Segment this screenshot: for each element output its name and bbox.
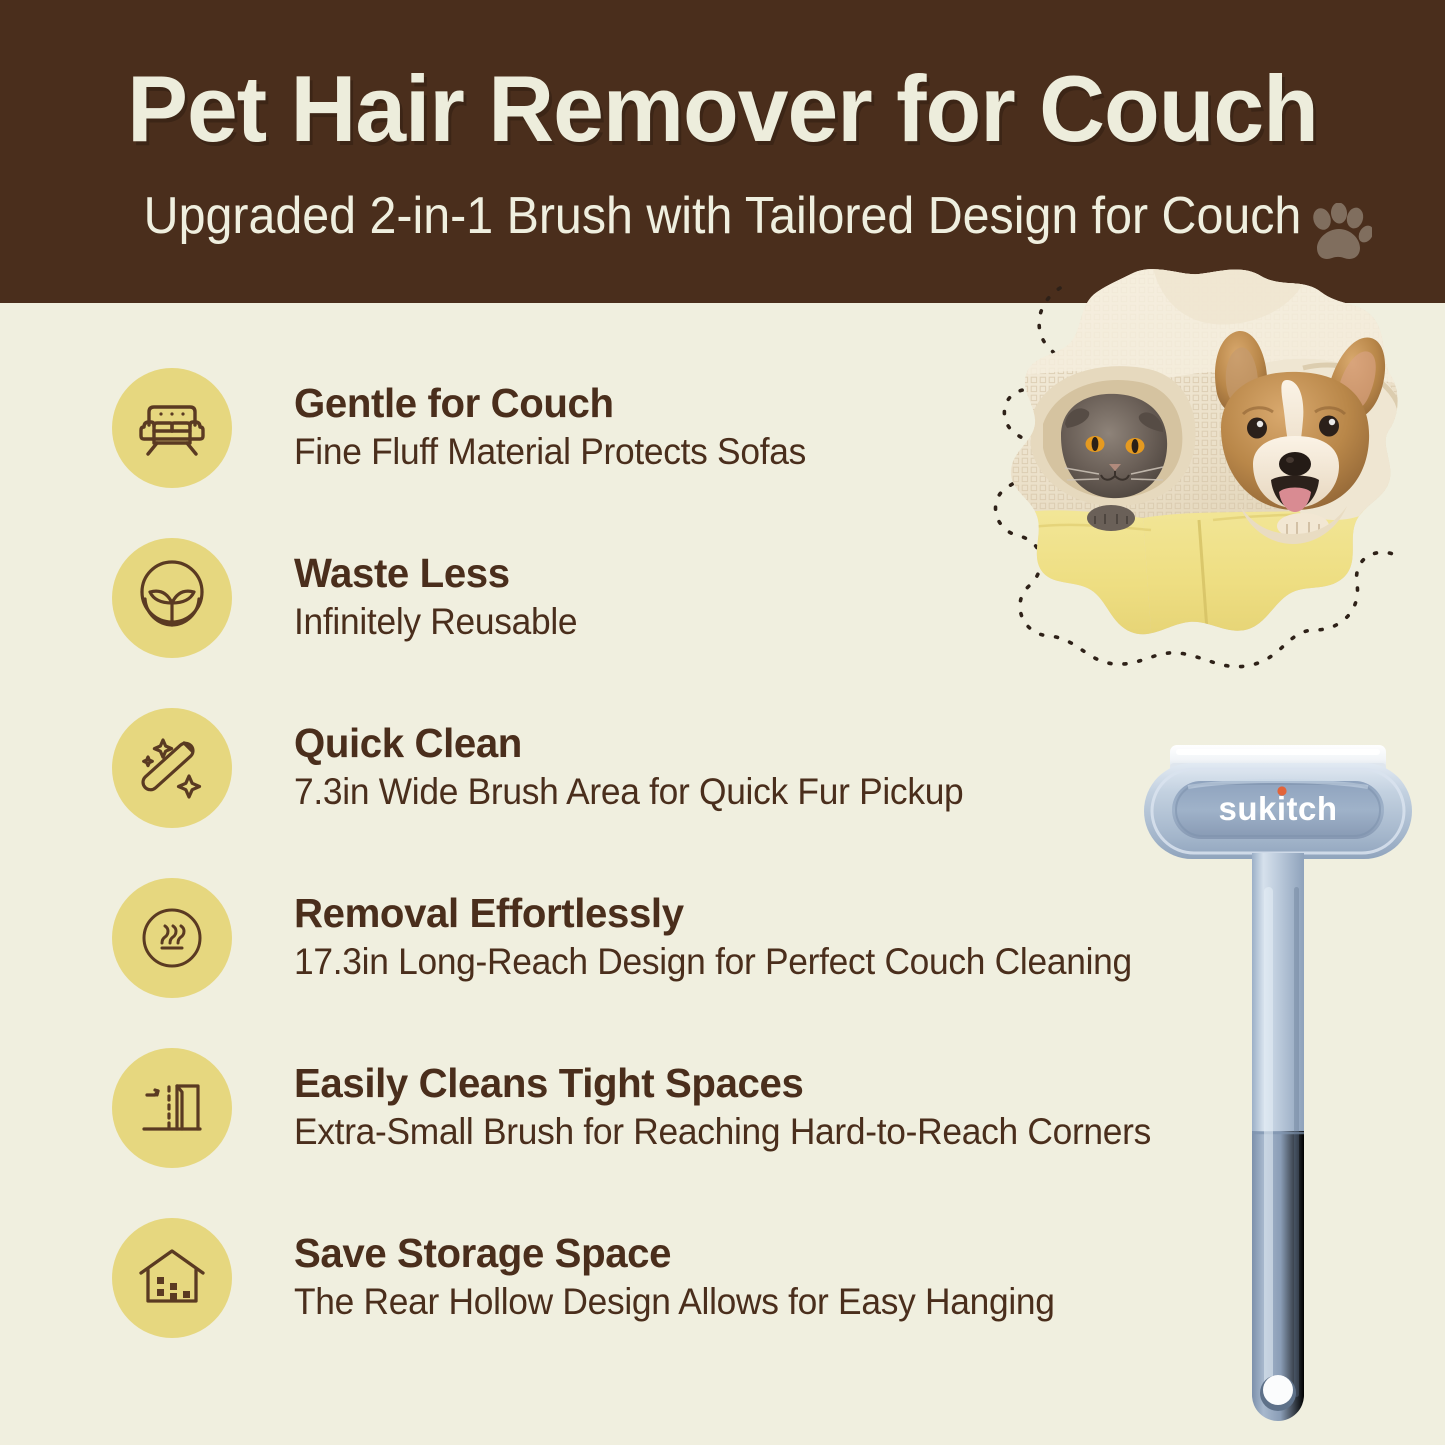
feature-desc: Extra-Small Brush for Reaching Hard-to-R… [294, 1110, 1151, 1154]
product-image-brush: sukitch [1128, 735, 1428, 1435]
pet-photo-image [1003, 268, 1407, 658]
feature-title: Removal Effortlessly [294, 891, 1154, 937]
brush-head: sukitch [1144, 763, 1412, 859]
brand-dot [1277, 786, 1286, 795]
feature-text: Removal Effortlessly 17.3in Long-Reach D… [294, 891, 1171, 984]
feature-row: Save Storage Space The Rear Hollow Desig… [112, 1215, 1292, 1341]
feature-title: Save Storage Space [294, 1231, 1075, 1277]
pet-photo [975, 258, 1427, 678]
feature-title: Easily Cleans Tight Spaces [294, 1061, 1173, 1107]
page-subtitle: Upgraded 2-in-1 Brush with Tailored Desi… [51, 190, 1395, 242]
feature-title: Waste Less [294, 551, 585, 597]
feature-desc: 7.3in Wide Brush Area for Quick Fur Pick… [294, 770, 963, 814]
feature-text: Quick Clean 7.3in Wide Brush Area for Qu… [294, 721, 995, 814]
feature-desc: 17.3in Long-Reach Design for Perfect Cou… [294, 940, 1132, 984]
couch-icon [112, 368, 232, 488]
feature-row: Easily Cleans Tight Spaces Extra-Small B… [112, 1045, 1292, 1171]
paw-print-icon [1306, 203, 1372, 265]
leaf-sprout-icon [112, 538, 232, 658]
feature-row: Removal Effortlessly 17.3in Long-Reach D… [112, 875, 1292, 1001]
steam-waves-icon [112, 878, 232, 998]
house-storage-icon [112, 1218, 232, 1338]
page-title: Pet Hair Remover for Couch [22, 62, 1424, 156]
feature-text: Gentle for Couch Fine Fluff Material Pro… [294, 381, 830, 474]
tight-gap-icon [112, 1048, 232, 1168]
feature-text: Waste Less Infinitely Reusable [294, 551, 591, 644]
feature-desc: Infinitely Reusable [294, 600, 577, 644]
feature-title: Gentle for Couch [294, 381, 819, 427]
feature-title: Quick Clean [294, 721, 981, 767]
feature-desc: The Rear Hollow Design Allows for Easy H… [294, 1280, 1055, 1324]
feature-desc: Fine Fluff Material Protects Sofas [294, 430, 806, 474]
brand-label: sukitch [1218, 790, 1337, 827]
feature-row: Quick Clean 7.3in Wide Brush Area for Qu… [112, 705, 1292, 831]
hanging-hole [1263, 1375, 1293, 1405]
feature-text: Easily Cleans Tight Spaces Extra-Small B… [294, 1061, 1191, 1154]
magic-wand-sparkle-icon [112, 708, 232, 828]
feature-text: Save Storage Space The Rear Hollow Desig… [294, 1231, 1090, 1324]
